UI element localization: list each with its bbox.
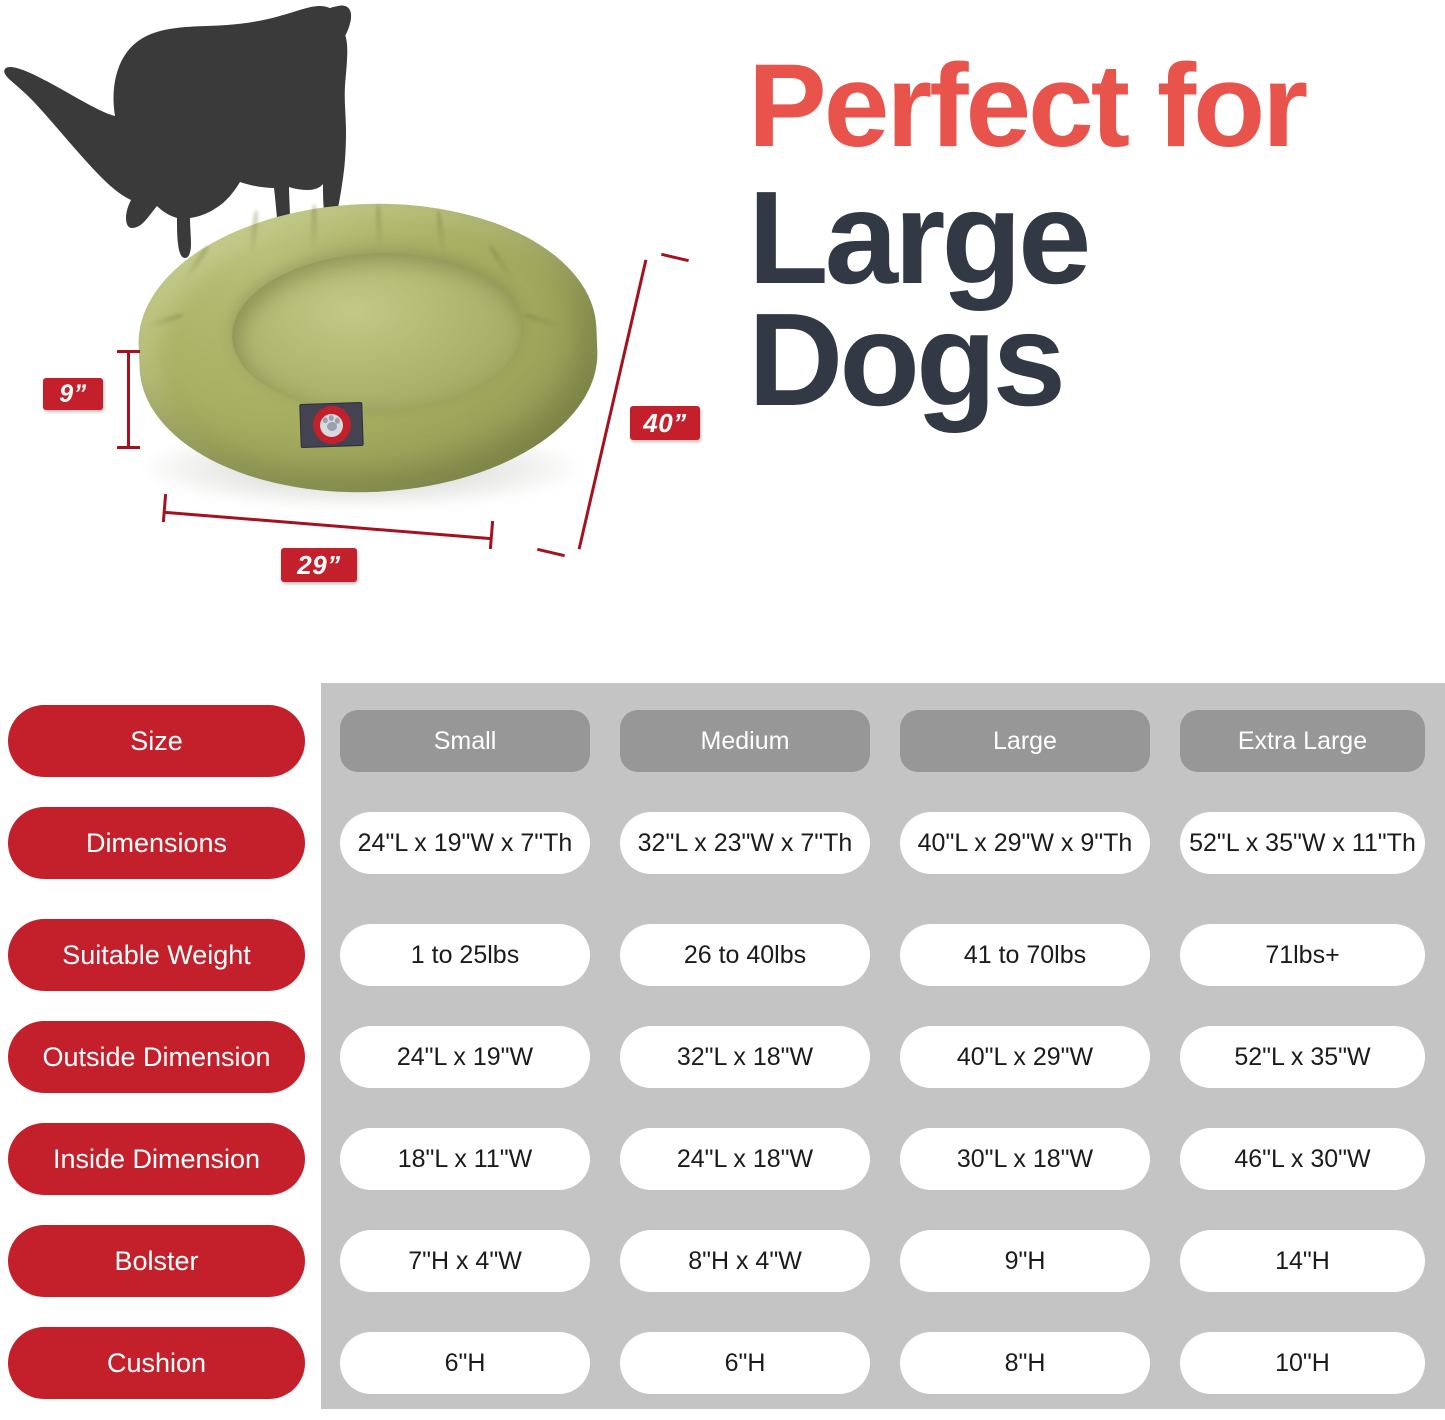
product-photo-dog-bed bbox=[133, 196, 603, 526]
brand-logo-ring bbox=[312, 405, 351, 444]
cell-cushion-medium: 6"H bbox=[620, 1332, 870, 1394]
table-row: Dimensions 24"L x 19"W x 7"Th 32"L x 23"… bbox=[0, 805, 1445, 881]
spec-table-section: Size Small Medium Large Extra Large Dime… bbox=[0, 683, 1445, 1420]
row-label-dimensions: Dimensions bbox=[8, 807, 305, 879]
column-header-extra-large: Extra Large bbox=[1180, 710, 1425, 772]
dimension-line-height bbox=[127, 352, 130, 449]
column-header-small: Small bbox=[340, 710, 590, 772]
column-header-large: Large bbox=[900, 710, 1150, 772]
cell-dimensions-medium: 32"L x 23"W x 7"Th bbox=[620, 812, 870, 874]
infographic-page: 9” 40” 29” Perfect for Large Dogs Size bbox=[0, 0, 1445, 1420]
headline-line-2: Large bbox=[748, 177, 1438, 300]
row-label-inside-dimension: Inside Dimension bbox=[8, 1123, 305, 1195]
row-label-cushion: Cushion bbox=[8, 1327, 305, 1399]
cell-bolster-extra-large: 14"H bbox=[1180, 1230, 1425, 1292]
cell-dimensions-small: 24"L x 19"W x 7"Th bbox=[340, 812, 590, 874]
cell-weight-small: 1 to 25lbs bbox=[340, 924, 590, 986]
paw-print-icon bbox=[320, 413, 344, 437]
dimension-cap-bottom bbox=[117, 446, 140, 449]
cell-weight-extra-large: 71lbs+ bbox=[1180, 924, 1425, 986]
table-row: Cushion 6"H 6"H 8"H 10"H bbox=[0, 1325, 1445, 1401]
cell-dimensions-large: 40"L x 29"W x 9"Th bbox=[900, 812, 1150, 874]
table-row: Inside Dimension 18"L x 11"W 24"L x 18"W… bbox=[0, 1121, 1445, 1197]
cell-outside-small: 24"L x 19"W bbox=[340, 1026, 590, 1088]
table-row: Outside Dimension 24"L x 19"W 32"L x 18"… bbox=[0, 1019, 1445, 1095]
cell-outside-medium: 32"L x 18"W bbox=[620, 1026, 870, 1088]
dimension-cap-top bbox=[117, 350, 140, 353]
cell-cushion-extra-large: 10"H bbox=[1180, 1332, 1425, 1394]
cell-weight-large: 41 to 70lbs bbox=[900, 924, 1150, 986]
dimension-badge-height: 9” bbox=[43, 378, 103, 410]
dimension-badge-width: 29” bbox=[281, 548, 357, 582]
cell-cushion-large: 8"H bbox=[900, 1332, 1150, 1394]
row-label-size: Size bbox=[8, 705, 305, 777]
table-row: Size Small Medium Large Extra Large bbox=[0, 703, 1445, 779]
cell-bolster-medium: 8"H x 4"W bbox=[620, 1230, 870, 1292]
row-label-suitable-weight: Suitable Weight bbox=[8, 919, 305, 991]
cell-weight-medium: 26 to 40lbs bbox=[620, 924, 870, 986]
cell-inside-medium: 24"L x 18"W bbox=[620, 1128, 870, 1190]
cell-bolster-large: 9"H bbox=[900, 1230, 1150, 1292]
table-row: Bolster 7"H x 4"W 8"H x 4"W 9"H 14"H bbox=[0, 1223, 1445, 1299]
majestic-pet-brand-tag bbox=[299, 402, 363, 448]
dimension-badge-length: 40” bbox=[630, 406, 700, 440]
cell-inside-small: 18"L x 11"W bbox=[340, 1128, 590, 1190]
cell-inside-large: 30"L x 18"W bbox=[900, 1128, 1150, 1190]
headline-line-1: Perfect for bbox=[748, 52, 1438, 161]
cell-bolster-small: 7"H x 4"W bbox=[340, 1230, 590, 1292]
cell-outside-large: 40"L x 29"W bbox=[900, 1026, 1150, 1088]
hero-section: 9” 40” 29” Perfect for Large Dogs bbox=[0, 0, 1445, 683]
cell-cushion-small: 6"H bbox=[340, 1332, 590, 1394]
cell-inside-extra-large: 46"L x 30"W bbox=[1180, 1128, 1425, 1190]
headline-block: Perfect for Large Dogs bbox=[748, 52, 1438, 422]
column-header-medium: Medium bbox=[620, 710, 870, 772]
cell-outside-extra-large: 52"L x 35"W bbox=[1180, 1026, 1425, 1088]
row-label-bolster: Bolster bbox=[8, 1225, 305, 1297]
dimension-cap-top bbox=[661, 253, 689, 262]
cell-dimensions-extra-large: 52"L x 35"W x 11"Th bbox=[1180, 812, 1425, 874]
table-row: Suitable Weight 1 to 25lbs 26 to 40lbs 4… bbox=[0, 917, 1445, 993]
row-label-outside-dimension: Outside Dimension bbox=[8, 1021, 305, 1093]
headline-line-3: Dogs bbox=[748, 299, 1438, 422]
dimension-cap-bottom bbox=[537, 548, 565, 557]
